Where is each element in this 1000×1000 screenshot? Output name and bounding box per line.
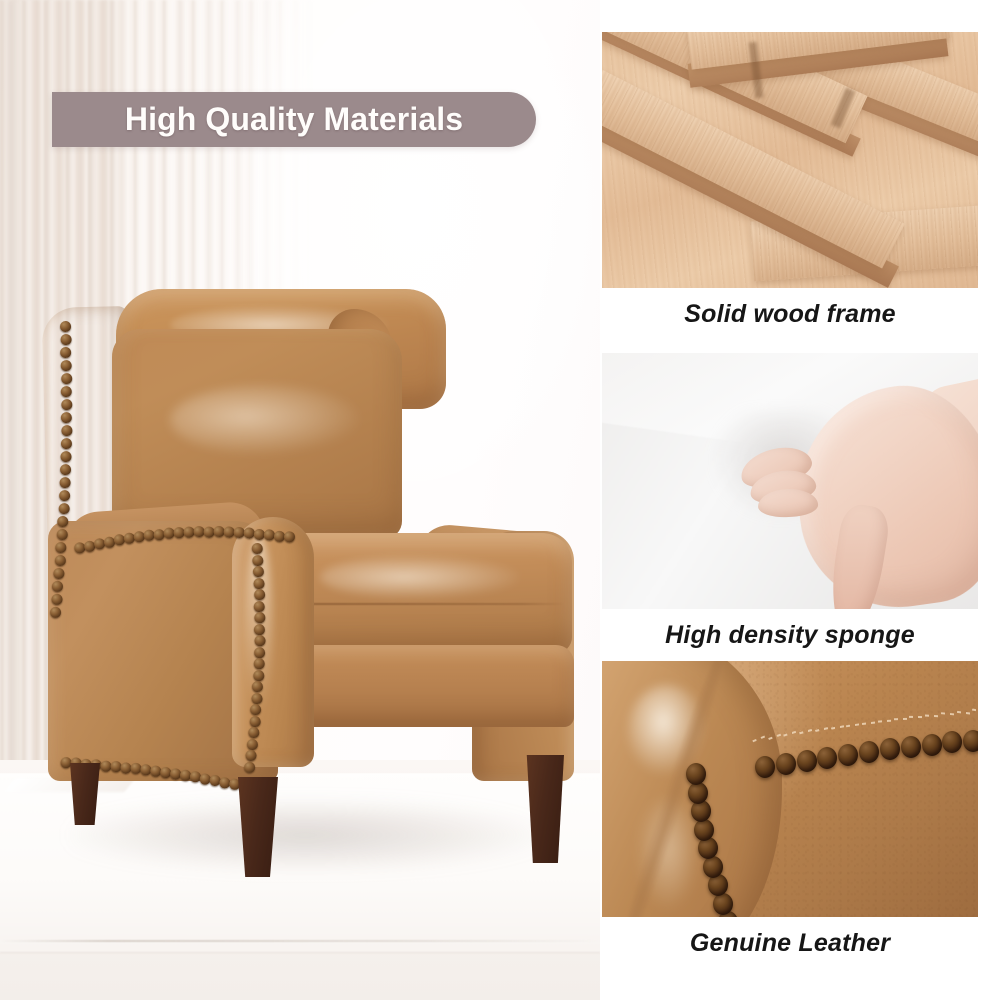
nailhead-stud	[59, 477, 70, 488]
nailhead-stud	[253, 669, 264, 680]
seat-highlight	[320, 555, 520, 599]
nailhead-stud	[50, 607, 61, 618]
floor-tile-line	[0, 940, 600, 942]
nailhead-stud	[52, 581, 63, 592]
nailhead-stud	[880, 738, 900, 760]
nailhead-stud	[60, 321, 71, 332]
nailhead-stud	[252, 543, 263, 554]
nailhead-stud	[253, 566, 264, 577]
nailhead-stud	[254, 647, 265, 658]
chair-leg-front-left	[70, 763, 100, 825]
nailhead-stud	[54, 555, 65, 566]
nailhead-stud	[251, 692, 262, 703]
nailhead-stud	[248, 727, 259, 738]
nailhead-stud	[61, 360, 72, 371]
nailhead-stud	[245, 750, 256, 761]
nailhead-stud	[252, 554, 263, 565]
wall-edge	[8, 0, 20, 800]
nailhead-stud	[57, 516, 68, 527]
nailhead-stud	[686, 763, 706, 785]
feature-solid-wood-frame: Solid wood frame	[602, 32, 978, 329]
nailhead-stud	[61, 438, 72, 449]
hero-product-photo: High Quality Materials	[0, 0, 600, 1000]
nailhead-stud	[55, 542, 66, 553]
nailhead-stud	[61, 373, 72, 384]
nailhead-stud	[51, 594, 62, 605]
nailhead-stud	[247, 738, 258, 749]
banner-title: High Quality Materials	[125, 101, 463, 138]
nailhead-stud	[61, 412, 72, 423]
nailhead-stud	[60, 464, 71, 475]
nailhead-stud	[963, 730, 978, 752]
nailhead-stud	[776, 753, 796, 775]
nailhead-stud	[61, 386, 72, 397]
nailhead-stud	[755, 756, 775, 778]
nailhead-stud	[859, 741, 879, 763]
nailhead-stud	[59, 490, 70, 501]
nailhead-stud	[817, 747, 837, 769]
back-cushion-highlight	[170, 385, 360, 455]
chair-front-rail	[274, 645, 574, 727]
genuine-leather-photo	[602, 661, 978, 917]
nailhead-stud	[60, 334, 71, 345]
nailhead-stud	[244, 761, 255, 772]
recliner-armchair	[20, 285, 585, 865]
seat-seam	[282, 603, 564, 605]
nailhead-stud	[249, 715, 260, 726]
chair-leg-front-right	[238, 777, 278, 877]
feature-high-density-sponge: High density sponge	[602, 353, 978, 650]
high-density-sponge-photo	[602, 353, 978, 609]
nailhead-stud	[922, 734, 942, 756]
solid-wood-frame-photo	[602, 32, 978, 288]
nailhead-stud	[60, 347, 71, 358]
feature-caption: High density sponge	[602, 609, 978, 650]
chair-leg-rear-right	[526, 755, 564, 863]
nailhead-stud	[53, 568, 64, 579]
feature-list: Solid wood frame High density sponge	[600, 0, 1000, 1000]
nailhead-stud	[60, 451, 71, 462]
nailhead-stud	[254, 635, 265, 646]
nailhead-stud	[253, 577, 264, 588]
stitch-segment	[925, 714, 943, 717]
nailhead-stud	[901, 736, 921, 758]
floor-tile-line-secondary	[0, 952, 600, 953]
banner-pill: High Quality Materials	[52, 92, 536, 147]
nailhead-stud	[56, 529, 67, 540]
nailhead-stud	[838, 744, 858, 766]
nailhead-stud	[58, 503, 69, 514]
nailhead-stud	[61, 399, 72, 410]
nailhead-stud	[254, 589, 265, 600]
feature-caption: Solid wood frame	[602, 288, 978, 329]
feature-genuine-leather: Genuine Leather	[602, 661, 978, 958]
nailhead-stud	[797, 750, 817, 772]
feature-caption: Genuine Leather	[602, 917, 978, 958]
nailhead-stud	[694, 819, 714, 841]
nailhead-stud	[61, 425, 72, 436]
product-feature-graphic: High Quality Materials Solid wood frame	[0, 0, 1000, 1000]
